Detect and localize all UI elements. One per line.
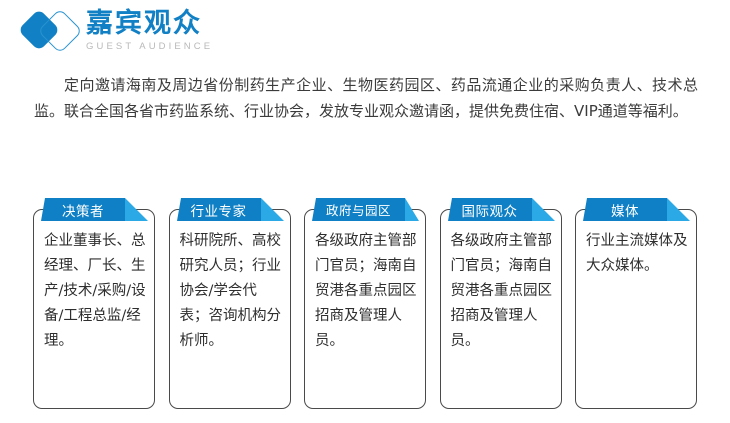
card-ribbon: 行业专家 xyxy=(177,198,284,221)
audience-card-media: 媒体 行业主流媒体及大众媒体。 xyxy=(575,198,697,410)
card-ribbon: 媒体 xyxy=(583,198,690,221)
audience-card-government-parks: 政府与园区 各级政府主管部门官员；海南自贸港各重点园区招商及管理人员。 xyxy=(304,198,426,410)
card-text: 科研院所、高校研究人员；行业协会/学会代表；咨询机构分析师。 xyxy=(180,229,285,354)
card-ribbon: 政府与园区 xyxy=(312,198,419,221)
card-text: 行业主流媒体及大众媒体。 xyxy=(586,229,691,279)
logo-text-group: 嘉宾观众 GUEST AUDIENCE xyxy=(86,10,213,52)
card-title: 决策者 xyxy=(41,198,125,221)
audience-card-industry-experts: 行业专家 科研院所、高校研究人员；行业协会/学会代表；咨询机构分析师。 xyxy=(169,198,291,410)
card-title: 政府与园区 xyxy=(312,198,405,221)
brand-logo: 嘉宾观众 GUEST AUDIENCE xyxy=(22,8,213,54)
card-text: 企业董事长、总经理、厂长、生产/技术/采购/设备/工程总监/经理。 xyxy=(44,229,149,354)
logo-title: 嘉宾观众 xyxy=(86,10,213,38)
audience-card-international-audience: 国际观众 各级政府主管部门官员；海南自贸港各重点园区招商及管理人员。 xyxy=(440,198,562,410)
card-ribbon: 决策者 xyxy=(41,198,148,221)
card-text: 各级政府主管部门官员；海南自贸港各重点园区招商及管理人员。 xyxy=(315,229,420,354)
card-title: 行业专家 xyxy=(177,198,261,221)
card-title: 媒体 xyxy=(583,198,667,221)
logo-subtitle: GUEST AUDIENCE xyxy=(86,41,213,52)
card-title: 国际观众 xyxy=(448,198,532,221)
audience-cards-row: 决策者 企业董事长、总经理、厂长、生产/技术/采购/设备/工程总监/经理。 行业… xyxy=(33,198,697,410)
card-text: 各级政府主管部门官员；海南自贸港各重点园区招商及管理人员。 xyxy=(451,229,556,354)
audience-card-decision-makers: 决策者 企业董事长、总经理、厂长、生产/技术/采购/设备/工程总监/经理。 xyxy=(33,198,155,410)
intro-paragraph: 定向邀请海南及周边省份制药生产企业、生物医药园区、药品流通企业的采购负责人、技术… xyxy=(34,72,698,124)
logo-mark xyxy=(22,8,84,54)
card-ribbon: 国际观众 xyxy=(448,198,555,221)
